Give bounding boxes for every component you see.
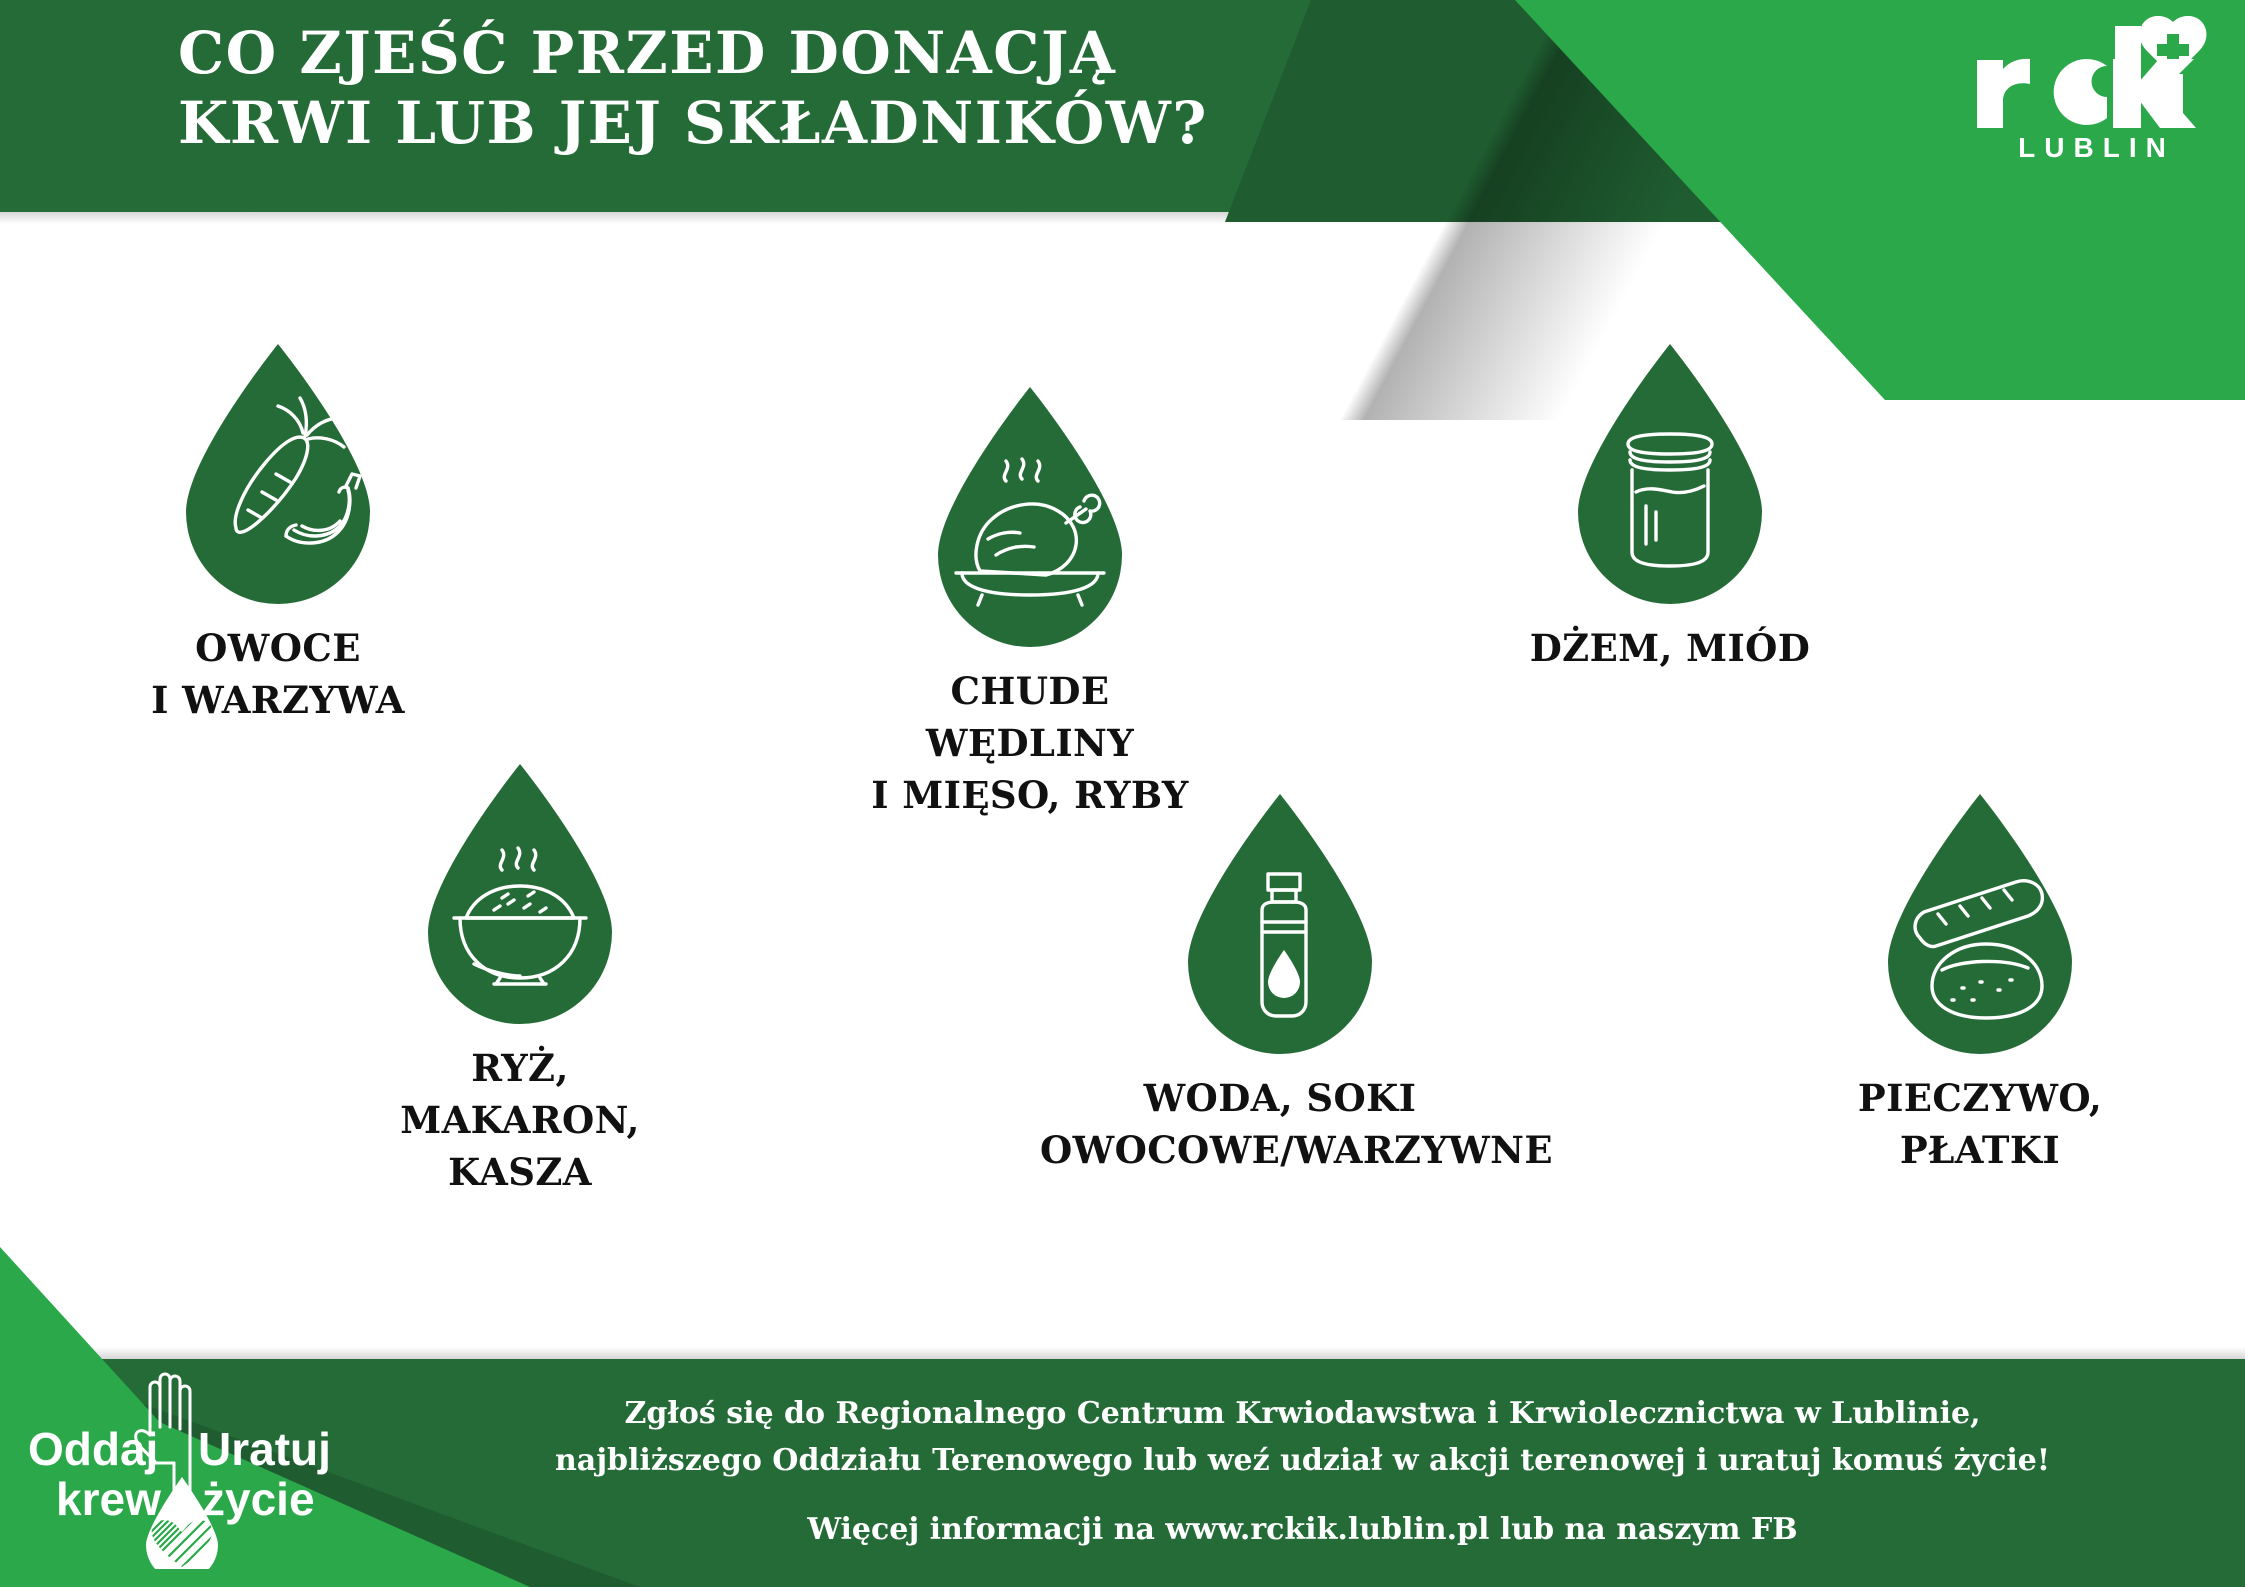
campaign-logo-uratuj: Uratuj <box>198 1423 331 1475</box>
item-lean-meat: CHUDE WĘDLINY I MIĘSO, RYBY <box>840 383 1220 821</box>
item-label-rice-pasta: RYŻ, MAKARON, KASZA <box>330 1042 710 1198</box>
page-title-line-1: CO ZJEŚĆ PRZED DONACJĄ <box>178 18 1208 88</box>
item-rice-pasta: RYŻ, MAKARON, KASZA <box>330 760 710 1198</box>
drop-shape-water <box>1176 790 1384 1058</box>
item-jam-honey: DŻEM, MIÓD <box>1480 340 1860 674</box>
brand-logo[interactable]: LUBLIN <box>1967 16 2217 164</box>
drop-shape-meat <box>926 383 1134 651</box>
footer-line-1: Zgłoś się do Regionalnego Centrum Krwiod… <box>430 1390 2175 1437</box>
page-title-line-2: KRWI LUB JEJ SKŁADNIKÓW? <box>178 88 1208 158</box>
item-label-jam-honey: DŻEM, MIÓD <box>1480 622 1860 674</box>
item-fruit-vegetables: OWOCE I WARZYWA <box>88 340 468 726</box>
footer-text: Zgłoś się do Regionalnego Centrum Krwiod… <box>430 1390 2175 1553</box>
brand-logo-city: LUBLIN <box>1967 132 2217 164</box>
drop-shape-fruit <box>174 340 382 608</box>
drop-shape-rice <box>416 760 624 1028</box>
campaign-logo-zycie: życie <box>202 1473 315 1525</box>
page-title: CO ZJEŚĆ PRZED DONACJĄ KRWI LUB JEJ SKŁA… <box>178 18 1208 158</box>
item-bread-cereal: PIECZYWO, PŁATKI <box>1790 790 2170 1176</box>
campaign-logo-oddaj: Oddaj <box>28 1423 158 1475</box>
campaign-logo-krew: krew <box>56 1473 161 1525</box>
item-label-fruit-vegetables: OWOCE I WARZYWA <box>88 622 468 726</box>
drop-shape-bread <box>1876 790 2084 1058</box>
campaign-logo[interactable]: Oddaj Uratuj krew życie <box>22 1369 352 1569</box>
footer-line-3[interactable]: Więcej informacji na www.rckik.lublin.pl… <box>430 1506 2175 1553</box>
heart-with-cross-icon <box>1967 16 2217 128</box>
item-water-juices: WODA, SOKI OWOCOWE/WARZYWNE <box>1040 790 1520 1176</box>
drop-shape-jam <box>1566 340 1774 608</box>
footer-band-shadow <box>0 1347 2245 1359</box>
item-label-bread-cereal: PIECZYWO, PŁATKI <box>1790 1072 2170 1176</box>
footer-line-2: najbliższego Oddziału Terenowego lub weź… <box>430 1437 2175 1484</box>
poster-canvas: CO ZJEŚĆ PRZED DONACJĄ KRWI LUB JEJ SKŁA… <box>0 0 2245 1587</box>
item-label-water-juices: WODA, SOKI OWOCOWE/WARZYWNE <box>1040 1072 1520 1176</box>
